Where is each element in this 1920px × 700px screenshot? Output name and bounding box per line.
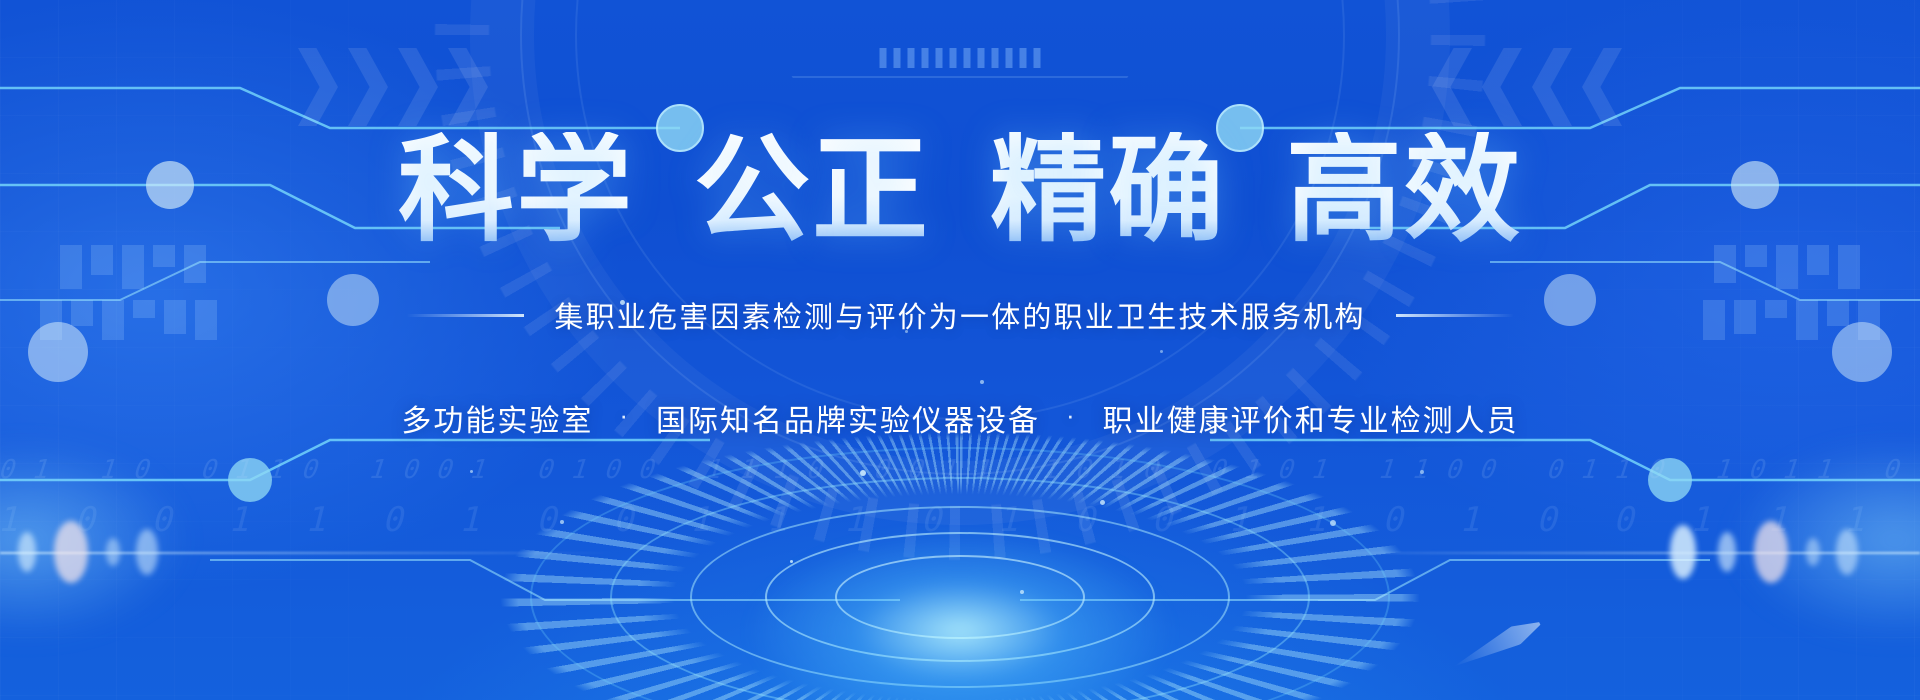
banner-content: 科学 公正 精确 高效 集职业危害因素检测与评价为一体的职业卫生技术服务机构 多…: [0, 0, 1920, 700]
feature-list: 多功能实验室 · 国际知名品牌实验仪器设备 · 职业健康评价和专业检测人员: [401, 396, 1518, 440]
subtitle-row: 集职业危害因素检测与评价为一体的职业卫生技术服务机构: [406, 294, 1513, 336]
headline: 科学 公正 精确 高效: [368, 132, 1552, 248]
feature-item-3: 职业健康评价和专业检测人员: [1103, 396, 1519, 440]
feature-separator: ·: [619, 400, 630, 431]
headline-word-3: 精确: [990, 132, 1226, 248]
headline-word-2: 公正: [694, 132, 930, 248]
feature-item-2: 国际知名品牌实验仪器设备: [656, 396, 1040, 440]
subtitle: 集职业危害因素检测与评价为一体的职业卫生技术服务机构: [554, 294, 1365, 336]
hero-banner: 01 10 0110 1001 0100 1110 0011 1010 0101…: [0, 0, 1920, 700]
headline-word-1: 科学: [398, 132, 634, 248]
feature-separator: ·: [1066, 400, 1077, 431]
divider-line-right: [1396, 314, 1514, 317]
divider-line-left: [406, 314, 524, 317]
headline-word-4: 高效: [1286, 132, 1522, 248]
feature-item-1: 多功能实验室: [401, 396, 593, 440]
